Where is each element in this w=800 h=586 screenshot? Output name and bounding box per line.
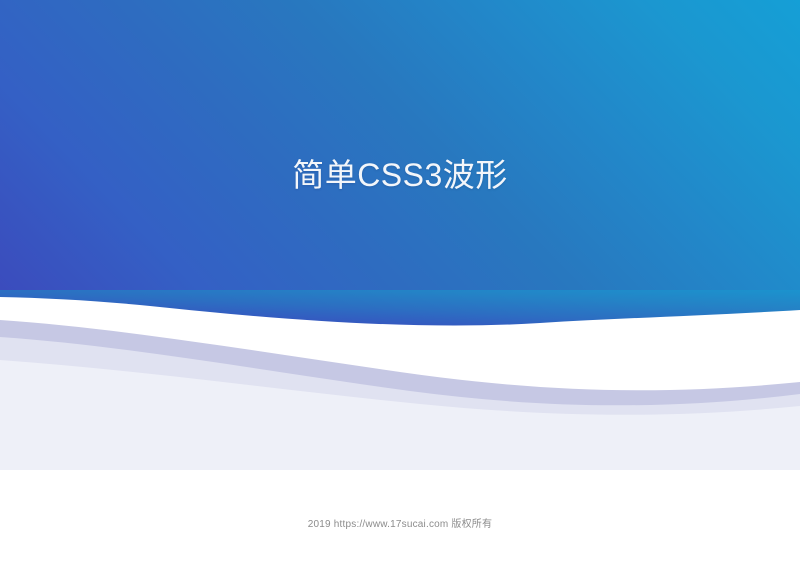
wave-graphic (0, 290, 800, 470)
footer-credit-text: 2019 https://www.17sucai.com 版权所有 (308, 518, 492, 532)
footer: 2019 https://www.17sucai.com 版权所有 (0, 514, 800, 532)
page-canvas: 简单CSS3波形 2019 https://www.17sucai.com 版权… (0, 0, 800, 586)
wave-svg (0, 290, 800, 470)
hero-title: 简单CSS3波形 (0, 0, 800, 195)
hero-banner: 简单CSS3波形 (0, 0, 800, 470)
